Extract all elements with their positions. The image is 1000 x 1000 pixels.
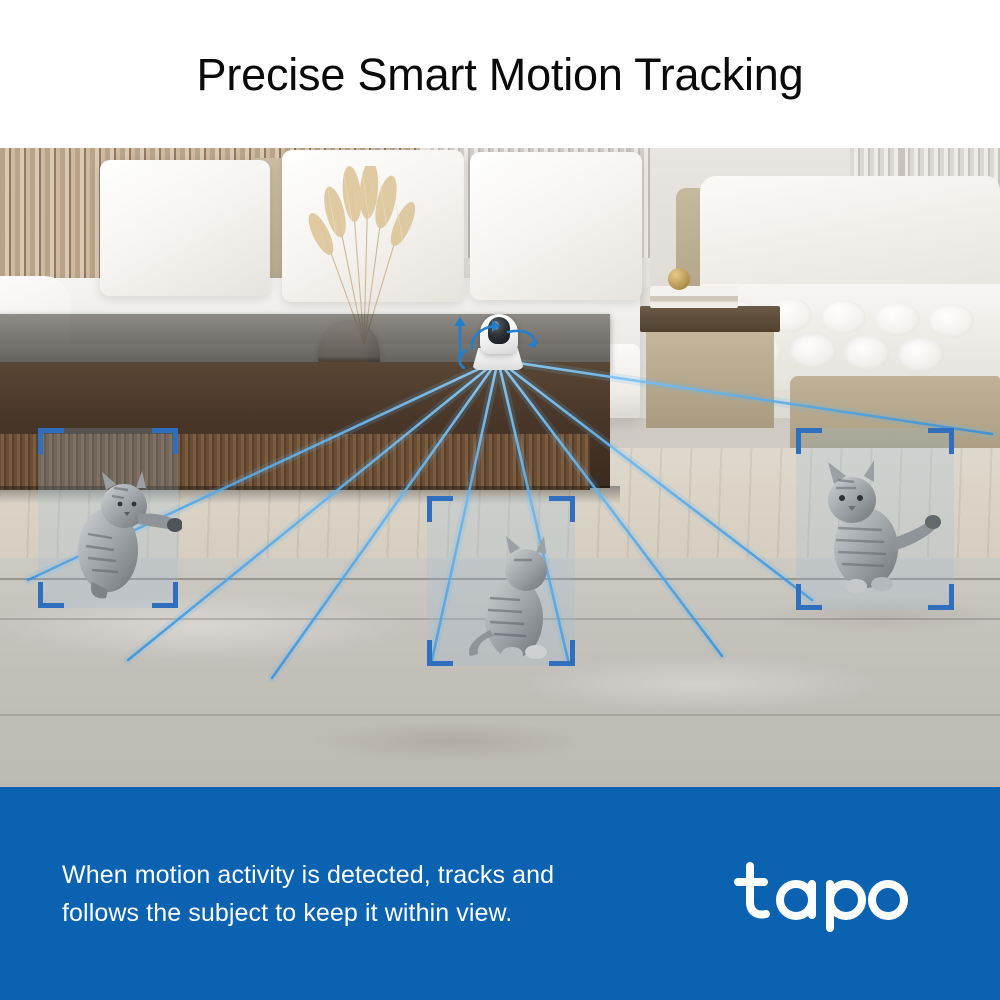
bracket-corner-tl <box>796 428 822 454</box>
cat-left <box>62 454 182 602</box>
tapo-logo: tapo <box>730 854 920 934</box>
bracket-corner-bl <box>38 582 64 608</box>
banner-caption-line-1: When motion activity is detected, tracks… <box>62 861 554 889</box>
banner-caption-line-2: follows the subject to keep it within vi… <box>62 894 554 932</box>
cat-center <box>456 526 574 664</box>
bracket-corner-tr <box>152 428 178 454</box>
bracket-corner-tr <box>928 428 954 454</box>
product-feature-card: Precise Smart Motion Tracking <box>0 0 1000 1000</box>
banner-caption: When motion activity is detected, tracks… <box>62 856 554 932</box>
scene-photo <box>0 148 1000 787</box>
title-bar: Precise Smart Motion Tracking <box>0 0 1000 148</box>
page-title: Precise Smart Motion Tracking <box>197 52 804 97</box>
bracket-corner-tl <box>38 428 64 454</box>
bottom-banner: When motion activity is detected, tracks… <box>0 787 1000 1000</box>
bracket-corner-bl <box>427 640 453 666</box>
bracket-corner-tl <box>427 496 453 522</box>
bracket-corner-tr <box>549 496 575 522</box>
cat-right <box>812 452 942 598</box>
pan-tilt-arrows-icon <box>442 298 560 378</box>
